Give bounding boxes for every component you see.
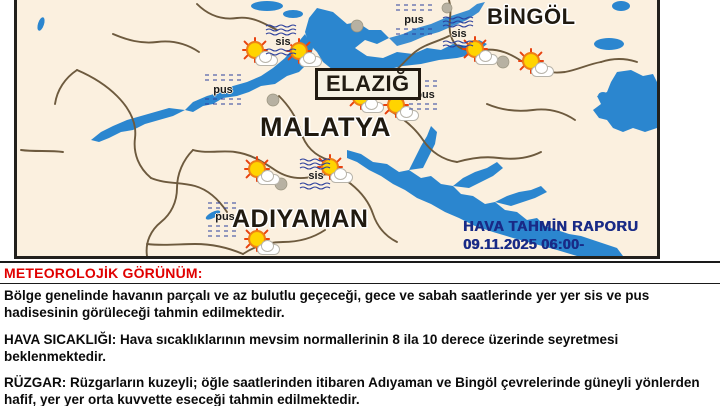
visibility-symbol-sis: sis [299, 158, 333, 191]
meteorological-heading: METEOROLOJİK GÖRÜNÜM: [0, 263, 720, 284]
city-label-adiyaman: ADIYAMAN [232, 205, 368, 234]
visibility-label: sis [265, 37, 301, 48]
cloud-icon [299, 52, 320, 65]
visibility-label: pus [394, 15, 434, 26]
weather-icon-partly-cloudy [520, 52, 554, 78]
cloud-icon [330, 168, 351, 181]
cloud-icon [257, 240, 278, 253]
paragraph-temperature: HAVA SICAKLIĞI: Hava sıcaklıklarının mev… [4, 331, 716, 366]
forecast-map-panel: sis pus pus [14, 0, 660, 259]
paragraph-general: Bölge genelinde havanın parçalı ve az bu… [4, 287, 716, 322]
weather-icon-partly-cloudy [246, 160, 280, 186]
cloud-icon [257, 170, 278, 183]
forecast-body: Bölge genelinde havanın parçalı ve az bu… [0, 284, 720, 406]
city-label-bingol: BİNGÖL [487, 4, 576, 30]
forecast-info-table: METEOROLOJİK GÖRÜNÜM: Bölge genelinde ha… [0, 261, 720, 406]
visibility-label: sis [299, 171, 333, 182]
report-title-block: HAVA TAHMİN RAPORU 09.11.2025 06:00-10.1… [463, 218, 657, 259]
cloud-icon [475, 50, 496, 63]
visibility-symbol-sis: sis [442, 16, 476, 49]
paragraph-wind: RÜZGAR: Rüzgarların kuzeyli; öğle saatle… [4, 374, 716, 406]
visibility-symbol-sis: sis [265, 24, 301, 57]
visibility-label: pus [203, 85, 243, 96]
city-label-malatya: MALATYA [260, 112, 391, 143]
cloud-icon [531, 62, 552, 75]
visibility-symbol-pus: pus [203, 72, 243, 109]
visibility-symbol-pus: pus [394, 2, 434, 39]
report-title: HAVA TAHMİN RAPORU [463, 218, 657, 236]
report-period: 09.11.2025 06:00-10.11.2025 06:00 [463, 236, 657, 259]
weather-forecast-screen: sis pus pus [0, 0, 720, 406]
visibility-label: sis [442, 29, 476, 40]
city-label-elazig: ELAZIĞ [315, 68, 421, 100]
